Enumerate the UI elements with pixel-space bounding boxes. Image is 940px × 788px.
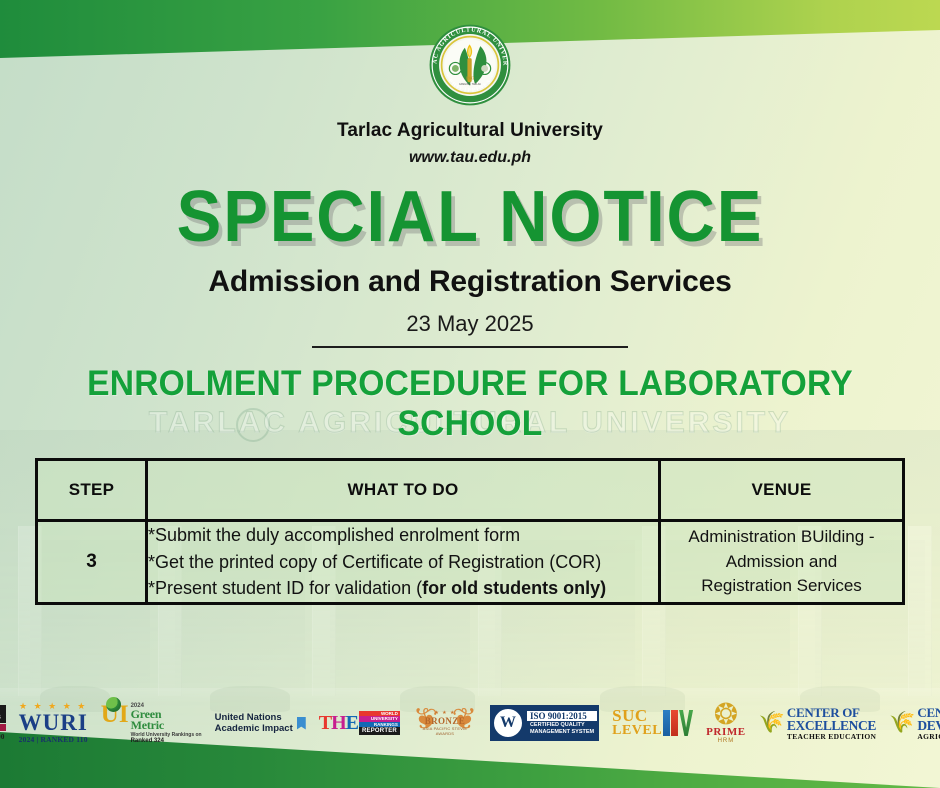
logo-suc-level-iv: SUC LEVEL [612,708,693,738]
logo-un-academic-impact: United Nations Academic Impact [215,712,306,734]
suc-line1: SUC [612,708,662,724]
wuri-brand: WURI [19,711,88,734]
logo-center-of-development: 🌾 CENTER OF DEVELOPMENT AGRICULTURE [889,706,940,741]
the-impact-line2: RANKINGS [0,714,6,723]
logo-wuri: ★ ★ ★ ★ ★ WURI 2024 | RANKED 110 [19,702,88,744]
coe-line2: EXCELLENCE [787,719,876,732]
notice-date: 23 May 2025 [0,311,940,337]
prime-wreath-icon: ❂ [706,701,746,729]
accreditation-logo-strip: THE IMPACT RANKINGS 2024 | RANKED 801-10… [0,694,940,752]
greenmetric-rank: Ranked 324 [131,738,202,744]
iso-line1: CERTIFIED QUALITY [527,721,597,729]
logo-the-reporter: THE WORLD UNIVERSITY RANKINGS REPORTER [319,711,400,736]
cod-wheat-icon: 🌾 [889,714,915,732]
cell-step-number: 3 [37,521,147,604]
column-header-step: STEP [37,460,147,521]
headline-special-notice: SPECIAL NOTICE [33,181,907,253]
column-header-what-to-do: WHAT TO DO [147,460,660,521]
venue-line-3: Registration Services [661,574,902,599]
iso-title: ISO 9001:2015 [527,711,597,721]
headline-subtitle: Admission and Registration Services [0,265,940,299]
venue-line-2: Admission and [661,550,902,575]
iso-line2: MANAGEMENT SYSTEM [527,728,597,736]
svg-text:CAMILING, TARLAC: CAMILING, TARLAC [459,83,481,86]
the-impact-line1: IMPACT [0,705,6,714]
university-seal-icon: TARLAC AGRICULTURAL UNIVERSITY · PHILIPP… [427,22,513,108]
cell-what-to-do: *Submit the duly accomplished enrolment … [147,521,660,604]
prime-sub: HRM [706,738,746,745]
todo-line-1: *Submit the duly accomplished enrolment … [148,522,658,549]
iso-seal-icon: W [492,707,524,739]
poster-header: TARLAC AGRICULTURAL UNIVERSITY · PHILIPP… [0,0,940,348]
table-header-row: STEP WHAT TO DO VENUE [37,460,904,521]
special-notice-poster: TARLAC AGRICULTURAL UNIVERSITY TARLAC AG… [0,0,940,788]
suc-numeral-icon [663,710,693,736]
column-header-venue: VENUE [660,460,904,521]
cell-venue: Administration BUilding - Admission and … [660,521,904,604]
logo-ui-greenmetric: UI 2024 Green Metric World University Ra… [101,703,202,744]
divider-rule [312,346,628,348]
todo-line-3: *Present student ID for validation (for … [148,575,658,602]
prime-word: PRIME [706,727,746,738]
cod-line2: DEVELOPMENT [917,719,940,732]
logo-iso-9001: W ISO 9001:2015 CERTIFIED QUALITY MANAGE… [490,705,599,741]
logo-prime-hrm: ❂ PRIME HRM [706,701,746,745]
bronze-word: BRONZE [413,716,477,726]
coe-wheat-icon: 🌾 [759,714,785,732]
venue-line-1: Administration BUilding - [661,525,902,550]
greenmetric-caption: World University Rankings on [131,732,202,738]
greenmetric-line2: Metric [131,720,202,731]
procedure-table: STEP WHAT TO DO VENUE 3 *Submit the duly… [35,458,905,605]
unai-bookmark-icon [297,717,306,730]
todo-line-3-bold: for old students only) [422,578,606,598]
unai-line1: United Nations [215,712,293,723]
todo-line-3-text: *Present student ID for validation ( [148,578,422,598]
todo-line-2: *Get the printed copy of Certificate of … [148,549,658,576]
procedure-table-wrapper: STEP WHAT TO DO VENUE 3 *Submit the duly… [35,458,905,605]
suc-line2: LEVEL [612,724,662,738]
cod-line3: AGRICULTURE [917,732,940,741]
the-reporter-line4: REPORTER [359,727,400,735]
unai-line2: Academic Impact [215,723,293,734]
greenmetric-globe-icon [106,697,121,712]
wuri-caption: 2024 | RANKED 110 [19,735,88,744]
section-title: ENROLMENT PROCEDURE FOR LABORATORY SCHOO… [19,364,921,444]
cod-line1: CENTER OF [917,706,940,719]
logo-center-of-excellence: 🌾 CENTER OF EXCELLENCE TEACHER EDUCATION [759,706,877,741]
university-website: www.tau.edu.ph [0,149,940,167]
svg-text:1943: 1943 [466,76,475,81]
table-row: 3 *Submit the duly accomplished enrolmen… [37,521,904,604]
bronze-sub2: AWARDS [413,731,477,736]
logo-bronze-award: ❦ ❦ ★ ★ ★ BRONZE ASIA PACIFIC STEVIE AWA… [413,703,477,743]
the-reporter-brand-icon: THE [319,713,358,733]
the-impact-caption: 2024 | RANKED 801-1000 [0,733,6,741]
the-impact-sdg-swatches-icon [0,724,6,731]
university-name: Tarlac Agricultural University [0,120,940,142]
logo-the-impact-rankings: THE IMPACT RANKINGS 2024 | RANKED 801-10… [0,705,6,741]
coe-line1: CENTER OF [787,706,876,719]
coe-line3: TEACHER EDUCATION [787,732,876,741]
